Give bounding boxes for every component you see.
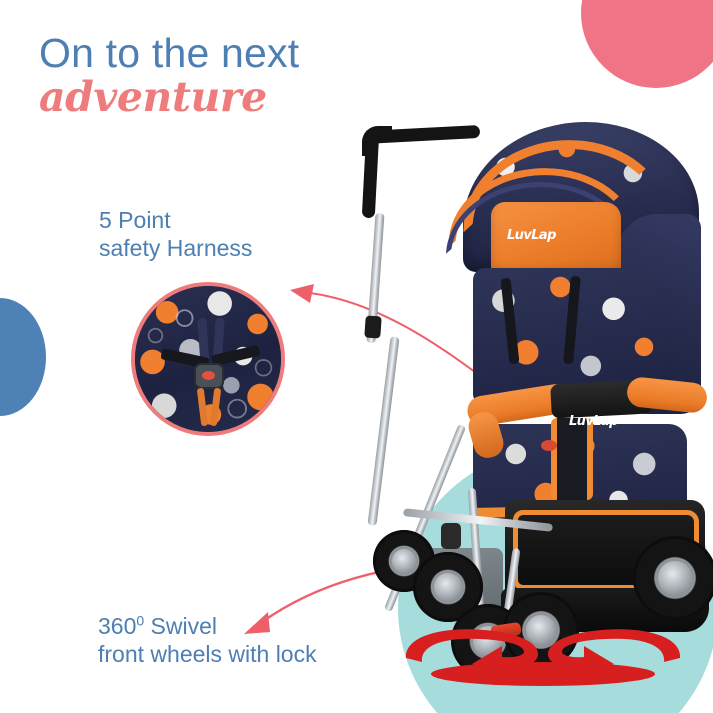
feature-label-swivel: 3600 Swivel front wheels with lock [98,612,317,668]
coral-corner-blob [581,0,713,88]
blue-edge-blob [0,298,46,416]
seat-crotch-pad [551,418,593,500]
harness-label-line-1: 5 Point [99,206,252,234]
degree-superscript: 0 [136,612,144,628]
brand-logo-bumper: LuvLap [569,414,618,429]
harness-release-button [202,371,215,380]
frame-joint-lower [441,523,461,549]
swivel-word: Swivel [144,613,217,639]
page-title: On to the next adventure [39,33,299,118]
frame-tube-rear-lower [367,336,399,526]
product-image-stroller: LuvLap LuvLap LuvLap [355,118,713,698]
wheel-rear-right [633,536,713,620]
frame-joint-upper [364,315,381,338]
swivel-degrees: 360 [98,613,136,639]
harness-detail-circle [131,282,285,436]
headline-line-1: On to the next [39,33,299,74]
brand-logo-headrest: LuvLap [507,228,556,243]
seat-buckle [541,440,557,451]
swivel-rotation-graphic [398,612,688,708]
feature-label-harness: 5 Point safety Harness [99,206,252,262]
infographic-canvas: On to the next adventure 5 Point safety … [0,0,713,713]
headline-line-2: adventure [39,77,299,118]
harness-label-line-2: safety Harness [99,234,252,262]
swivel-label-line-1: 3600 Swivel [98,612,317,640]
swivel-label-line-2: front wheels with lock [98,640,317,668]
